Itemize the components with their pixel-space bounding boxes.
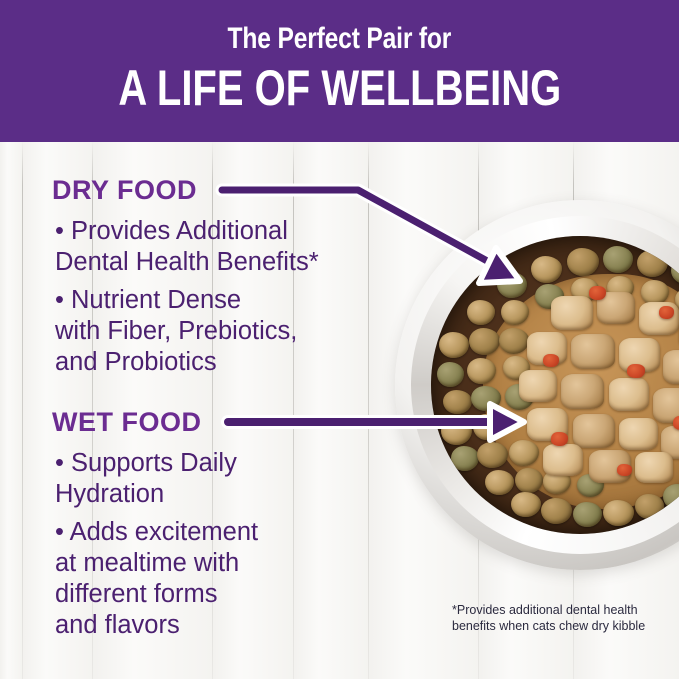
tomato-bit — [617, 464, 632, 476]
wet-food-chunk — [519, 370, 557, 402]
wet-food-heading: WET FOOD — [52, 407, 201, 438]
wet-food-bullet-2: • Adds excitement at mealtime with diffe… — [55, 517, 415, 641]
wet-food-chunk — [551, 296, 593, 330]
footnote-line-2: benefits when cats chew dry kibble — [452, 618, 677, 634]
dry-food-heading: DRY FOOD — [52, 175, 197, 206]
infographic-root: The Perfect Pair for A LIFE OF WELLBEING — [0, 0, 679, 679]
tomato-bit — [659, 306, 674, 319]
kibble — [439, 332, 469, 358]
kibble — [451, 446, 479, 471]
kibble — [603, 500, 634, 526]
kibble — [567, 248, 599, 276]
kibble — [441, 418, 472, 445]
bullet-line: • Nutrient Dense — [55, 285, 415, 316]
kibble — [603, 246, 633, 273]
kibble — [467, 300, 495, 325]
wet-food-chunk — [609, 378, 649, 411]
kibble — [477, 442, 508, 468]
footnote-line-1: *Provides additional dental health — [452, 602, 677, 618]
bullet-line: and Probiotics — [55, 347, 415, 378]
bullet-line: at mealtime with — [55, 548, 415, 579]
wet-food-chunk — [663, 350, 679, 384]
tomato-bit — [543, 354, 559, 367]
kibble — [541, 498, 572, 524]
header-title-line1: The Perfect Pair for — [228, 22, 452, 56]
benefits-column: DRY FOOD • Provides Additional Dental He… — [0, 142, 430, 679]
kibble — [511, 492, 541, 517]
tomato-bit — [673, 416, 679, 430]
header-banner: The Perfect Pair for A LIFE OF WELLBEING — [0, 0, 679, 142]
wet-food-bullet-1: • Supports Daily Hydration — [55, 448, 415, 510]
kibble — [531, 256, 562, 283]
dry-food-bullet-1: • Provides Additional Dental Health Bene… — [55, 216, 415, 278]
tomato-bit — [589, 286, 606, 300]
dry-food-bullet-2: • Nutrient Dense with Fiber, Prebiotics,… — [55, 285, 415, 378]
footnote: *Provides additional dental health benef… — [452, 602, 677, 634]
wet-food-chunk — [639, 302, 679, 335]
bullet-line: • Supports Daily — [55, 448, 415, 479]
kibble — [497, 272, 527, 298]
bullet-line: Hydration — [55, 479, 415, 510]
bullet-line: and flavors — [55, 610, 415, 641]
wet-food-chunk — [561, 374, 604, 409]
kibble — [485, 470, 514, 495]
tomato-bit — [627, 364, 645, 378]
wet-food-chunk — [571, 334, 615, 369]
kibble — [637, 250, 668, 277]
tomato-bit — [551, 432, 568, 446]
kibble — [663, 484, 679, 510]
bullet-line: different forms — [55, 579, 415, 610]
cat-food-bowl-image — [395, 200, 679, 580]
kibble — [437, 362, 464, 387]
wet-food-chunk — [573, 414, 615, 448]
bullet-line: with Fiber, Prebiotics, — [55, 316, 415, 347]
bullet-line: Dental Health Benefits* — [55, 247, 415, 278]
bullet-line: • Provides Additional — [55, 216, 415, 247]
wet-food-chunk — [543, 444, 583, 476]
header-title-line2: A LIFE OF WELLBEING — [118, 60, 561, 116]
wet-food-chunk — [619, 418, 658, 450]
kibble — [573, 502, 602, 527]
bullet-line: • Adds excitement — [55, 517, 415, 548]
kibble — [443, 390, 472, 414]
wet-food-chunk — [635, 452, 673, 483]
